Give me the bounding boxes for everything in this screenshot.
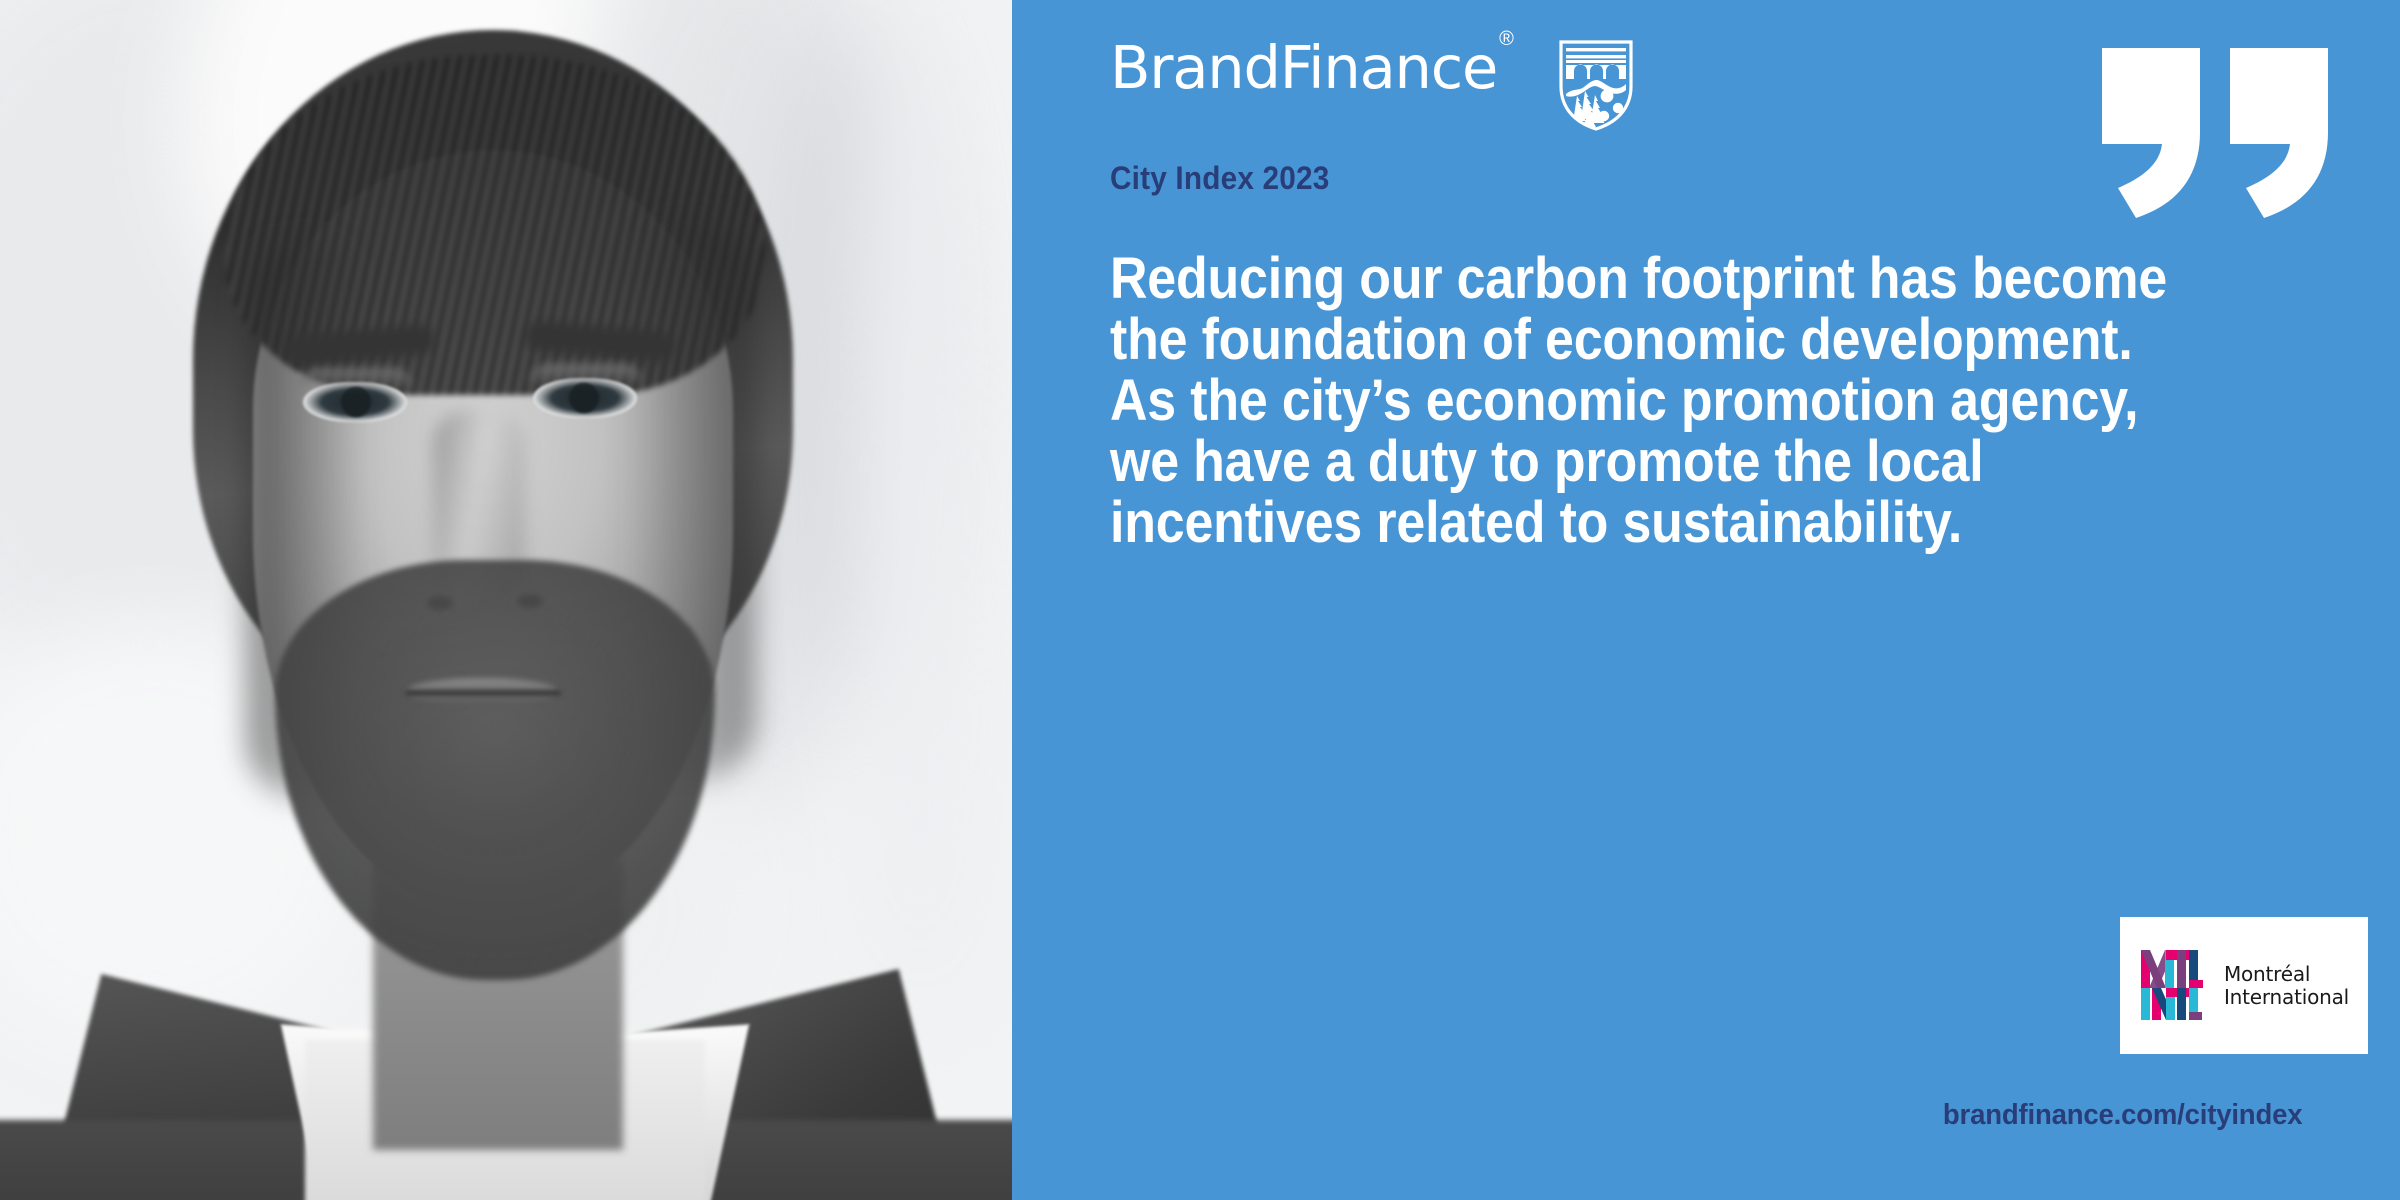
portrait-head <box>155 30 855 1200</box>
pupil-right <box>569 383 599 413</box>
eyelid-right <box>527 364 645 386</box>
quote-text: Reducing our carbon footprint has become… <box>1110 248 2211 553</box>
portrait-photo <box>0 0 1012 1200</box>
brand-finance-wordmark: BrandFinance® <box>1110 38 1511 97</box>
mtl-intl-mark-icon <box>2139 944 2213 1027</box>
brand-finance-logo: BrandFinance® <box>1110 38 1635 138</box>
quote-card: BrandFinance® <box>0 0 2400 1200</box>
wordmark-finance: Finance <box>1280 33 1497 102</box>
website-url[interactable]: brandfinance.com/cityindex <box>1943 1099 2302 1132</box>
quote-mark-icon <box>2102 48 2332 218</box>
report-subtitle: City Index 2023 <box>1110 160 1329 197</box>
registered-trademark-icon: ® <box>1499 28 1513 50</box>
mouth-line <box>405 690 561 696</box>
beard <box>275 560 715 980</box>
pupil-left <box>341 387 371 417</box>
montreal-international-logo-box: Montréal International <box>2120 917 2368 1054</box>
wordmark-brand: Brand <box>1110 33 1280 102</box>
eyelid-left <box>297 368 415 390</box>
montreal-international-name: Montréal International <box>2224 963 2349 1009</box>
backdrop-blur-shape <box>860 0 980 1000</box>
mtl-intl-lockup: Montréal International <box>2139 944 2349 1027</box>
content-panel: BrandFinance® <box>1012 0 2400 1200</box>
brand-finance-shield-icon <box>1557 38 1635 138</box>
